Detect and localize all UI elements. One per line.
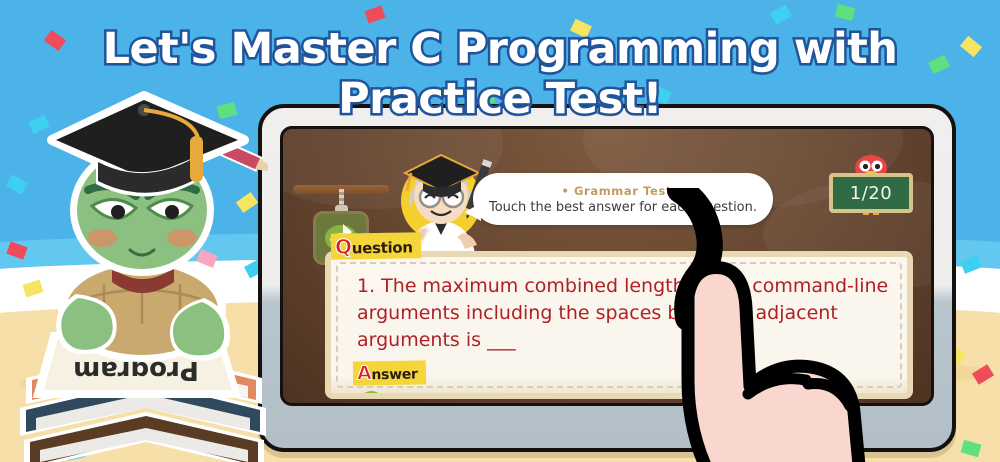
instruction-speech-bubble: • Grammar Test • Touch the best answer f… <box>473 173 773 225</box>
option-a-label: 128 characters <box>398 392 556 400</box>
page-title: Let's Master C Programming with Practice… <box>0 24 1000 124</box>
option-a-key: A <box>366 396 376 399</box>
quiz-screen: • Grammar Test • Touch the best answer f… <box>280 126 934 406</box>
answer-badge: Answer <box>353 360 426 385</box>
bubble-title: • Grammar Test • <box>561 184 684 198</box>
score-indicator: 1/20 <box>827 151 915 219</box>
option-a-marker: A <box>359 391 384 399</box>
bubble-subtitle: Touch the best answer for each question. <box>489 200 757 215</box>
answer-badge-rest: nswer <box>371 367 417 384</box>
score-value: 1/20 <box>850 183 892 204</box>
question-badge: Question <box>331 232 421 260</box>
answer-badge-initial: A <box>357 362 372 384</box>
question-text: 1. The maximum combined length of the co… <box>357 273 889 354</box>
turtle-graduate-mascot: Program <box>18 78 268 462</box>
question-badge-rest: uestion <box>352 238 413 257</box>
question-panel: 1. The maximum combined length of the co… <box>325 251 913 399</box>
answer-option-a[interactable]: A 128 characters <box>359 391 556 399</box>
tablet-device: • Grammar Test • Touch the best answer f… <box>258 104 956 452</box>
banner-title-container: Let's Master C Programming with Practice… <box>0 24 1000 124</box>
question-badge-initial: Q <box>335 234 352 258</box>
score-chalkboard: 1/20 <box>829 173 913 213</box>
